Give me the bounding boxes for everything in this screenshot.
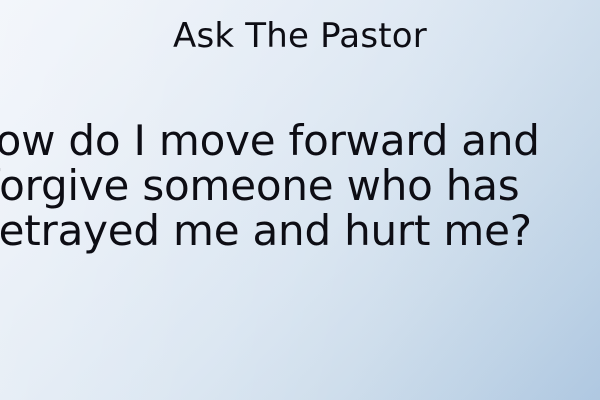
slide-title-row: Ask The Pastor — [0, 14, 600, 58]
slide-canvas: Ask The Pastor How do I move forward and… — [0, 0, 600, 400]
question-line-1: How do I move forward and — [0, 118, 572, 163]
question-line-3: betrayed me and hurt me? — [0, 208, 572, 253]
question-line-2: forgive someone who has — [0, 163, 572, 208]
page-title: Ask The Pastor — [173, 14, 427, 58]
question-text-block: How do I move forward and forgive someon… — [0, 118, 572, 253]
